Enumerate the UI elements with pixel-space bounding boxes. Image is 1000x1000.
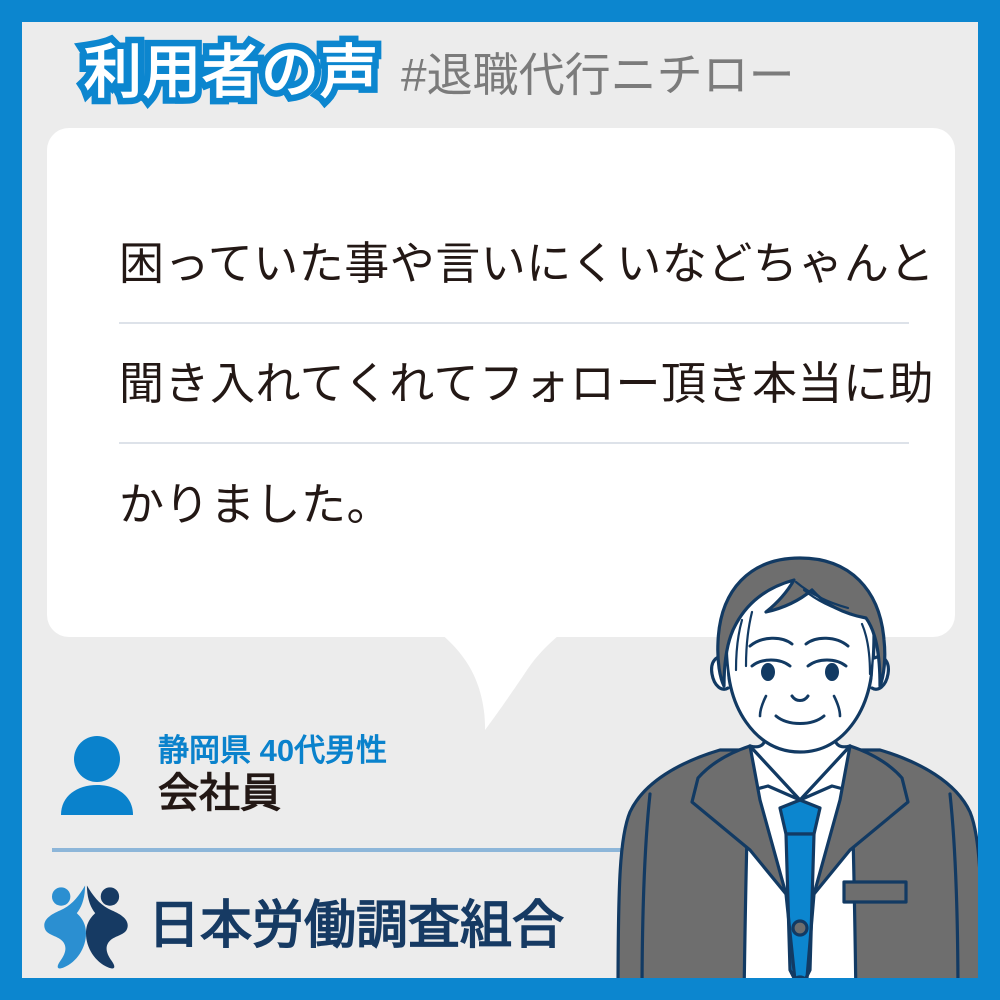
divider xyxy=(52,848,665,852)
card-panel: 利用者の声 #退職代行ニチロー 困っていた事や言いにくいなどちゃんと 聞き入れて… xyxy=(22,22,978,978)
header: 利用者の声 #退職代行ニチロー xyxy=(84,28,795,118)
businessman-illustration xyxy=(600,550,978,978)
profile-occupation: 会社員 xyxy=(158,772,387,815)
profile-block: 静岡県 40代男性 会社員 xyxy=(60,735,387,815)
profile-meta: 静岡県 40代男性 xyxy=(158,735,387,768)
page-title: 利用者の声 xyxy=(84,44,379,102)
testimonial-line: 聞き入れてくれてフォロー頂き本当に助 xyxy=(119,324,909,444)
person-icon xyxy=(60,735,134,815)
hashtag-label: #退職代行ニチロー xyxy=(401,52,795,98)
organization-name: 日本労働調査組合 xyxy=(148,900,564,952)
testimonial-line: 困っていた事や言いにくいなどちゃんと xyxy=(119,204,909,324)
organization-logo-icon xyxy=(40,880,132,972)
footer: 日本労働調査組合 xyxy=(40,880,564,972)
profile-text: 静岡県 40代男性 会社員 xyxy=(158,735,387,815)
speech-bubble-tail xyxy=(427,622,587,732)
testimonial-line: かりました。 xyxy=(119,444,909,564)
testimonial-text: 困っていた事や言いにくいなどちゃんと 聞き入れてくれてフォロー頂き本当に助 かり… xyxy=(119,204,909,564)
testimonial-card: 利用者の声 #退職代行ニチロー 困っていた事や言いにくいなどちゃんと 聞き入れて… xyxy=(0,0,1000,1000)
